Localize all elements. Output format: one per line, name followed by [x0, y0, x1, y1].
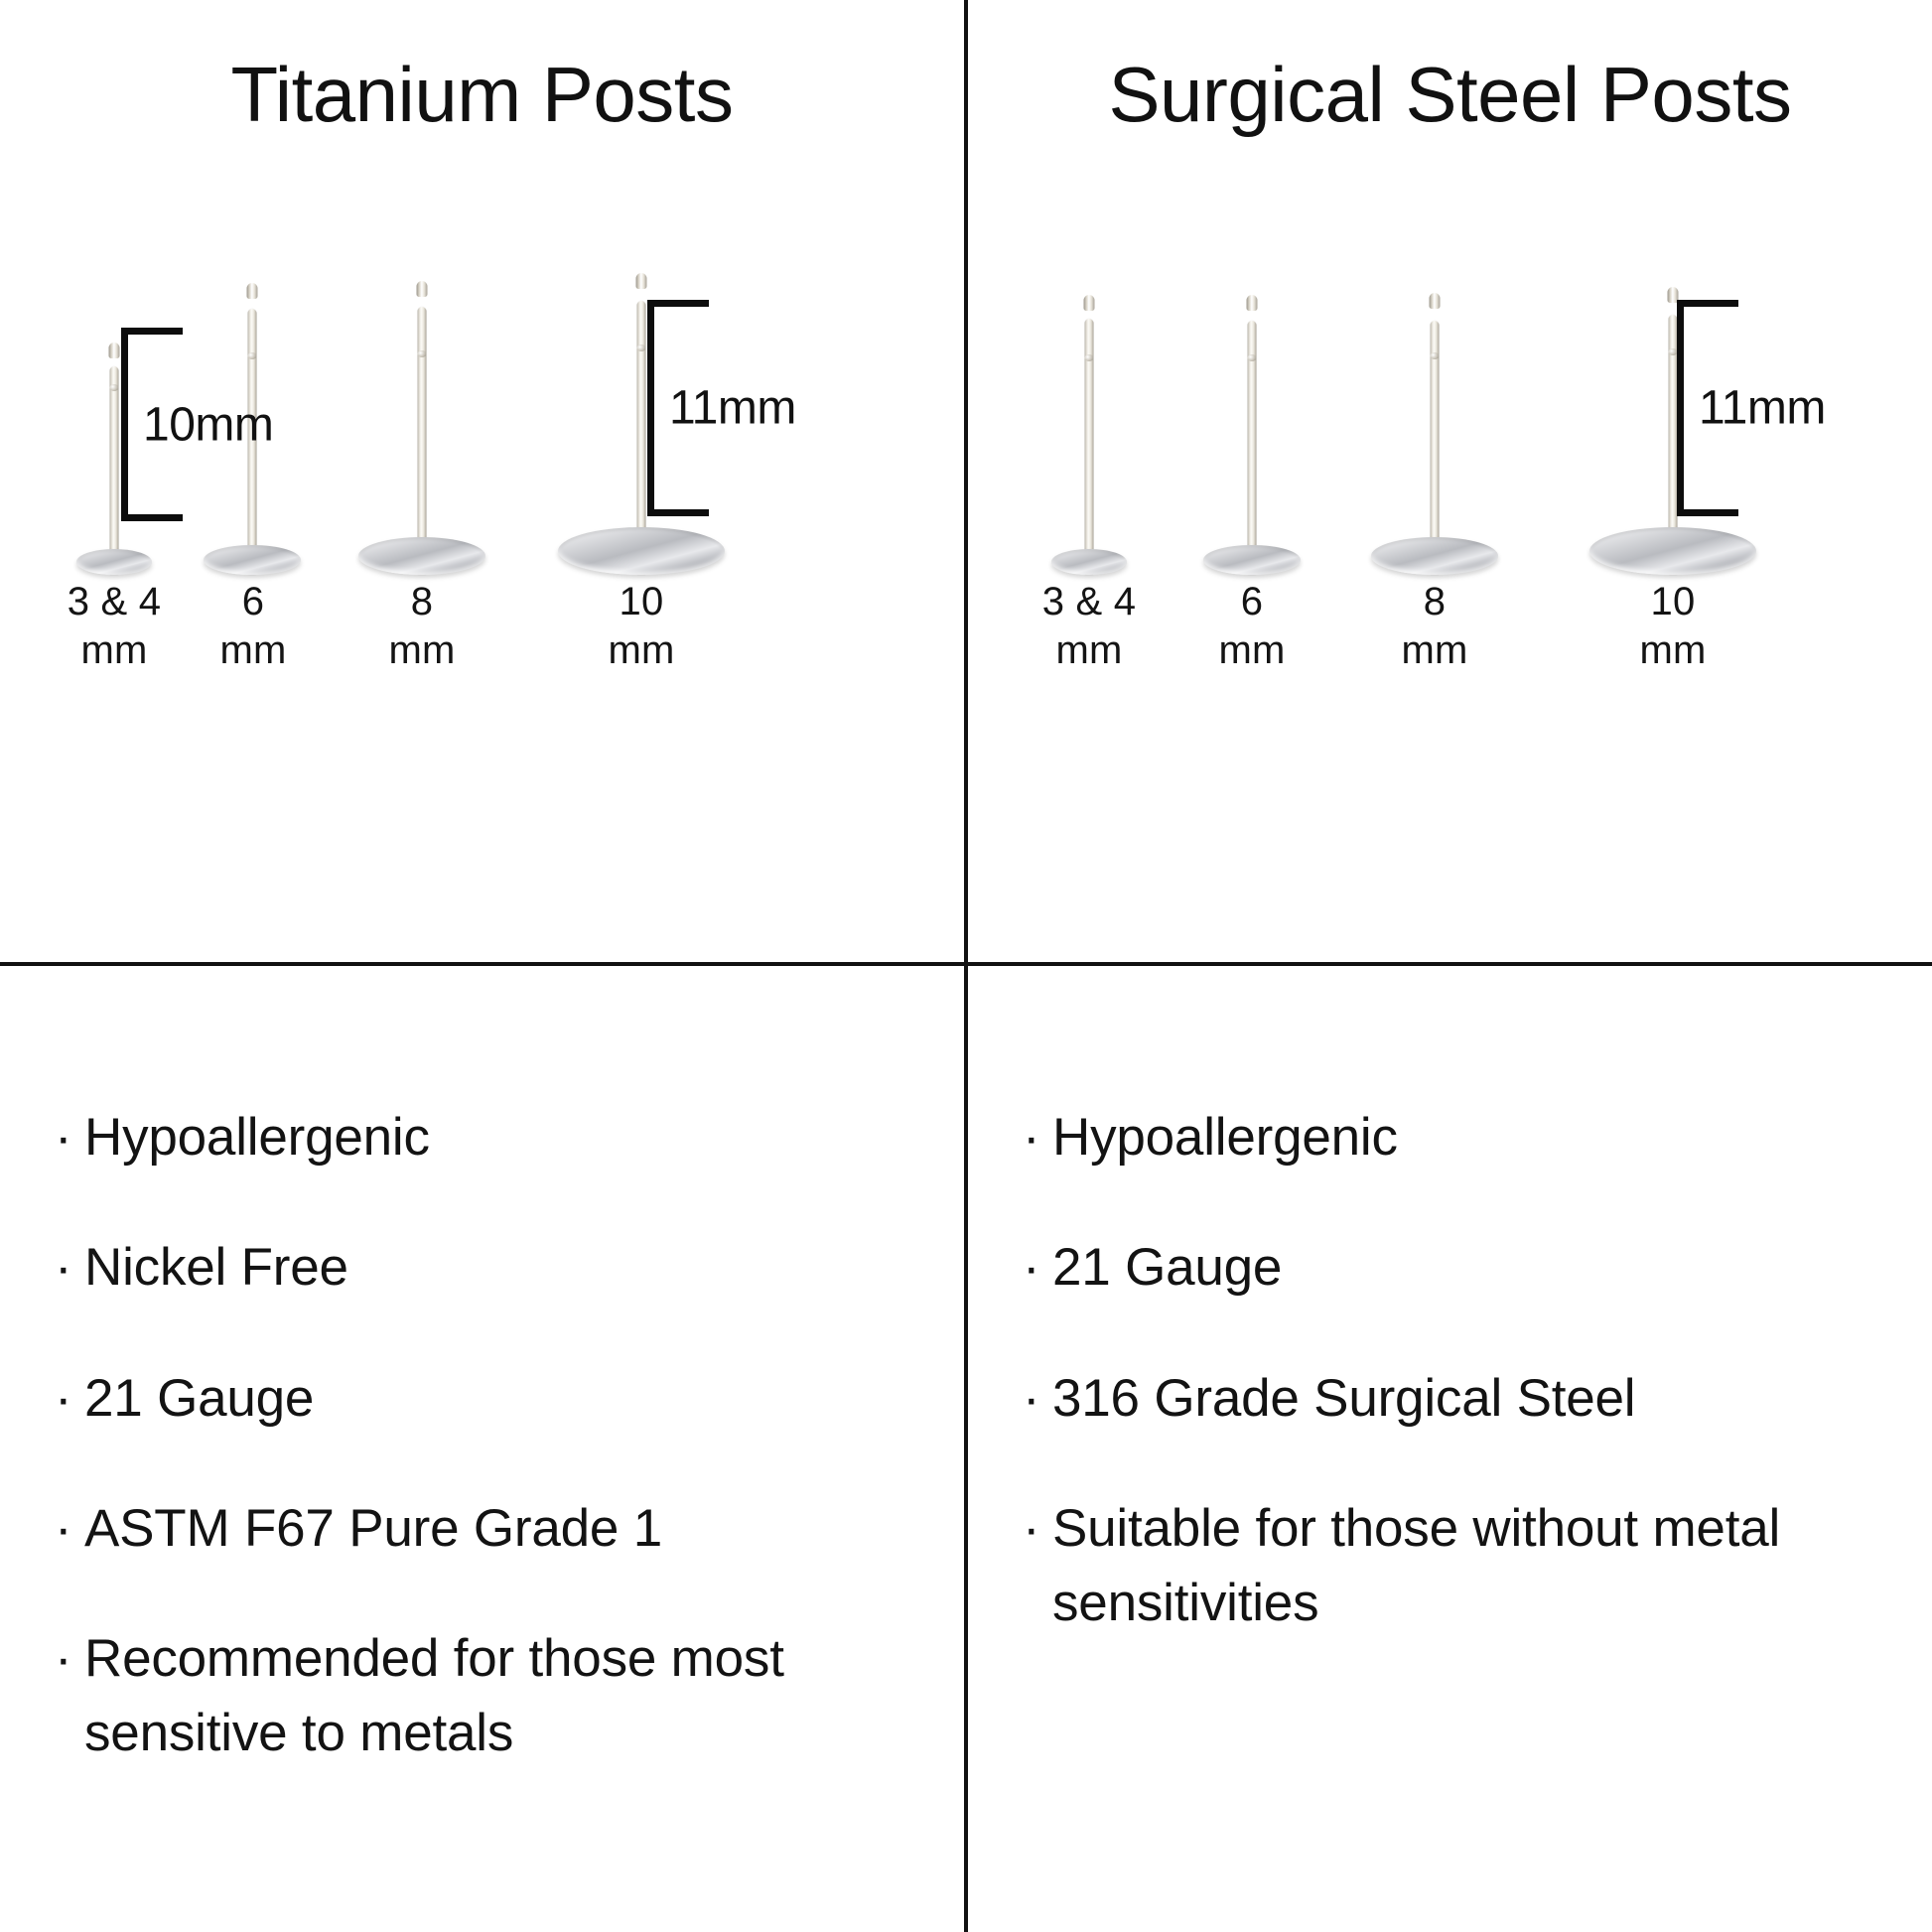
bullet-dot-icon: ·: [55, 1621, 84, 1696]
post-disc-base: [1203, 545, 1301, 575]
post-notch: [110, 384, 119, 391]
post-disc-base: [558, 527, 725, 575]
bullet-dot-icon: ·: [55, 1230, 84, 1305]
list-item: ·Hypoallergenic: [55, 1100, 928, 1174]
list-item-label: Nickel Free: [84, 1230, 928, 1305]
post-notch: [418, 350, 427, 357]
bullet-dot-icon: ·: [1023, 1100, 1052, 1174]
bullet-dot-icon: ·: [1023, 1230, 1052, 1305]
measurement-bracket-11mm-steel: 11mm: [1677, 300, 1738, 516]
post-disc-base: [1371, 537, 1498, 575]
list-item: ·Nickel Free: [55, 1230, 928, 1305]
post-steel-6mm: [1196, 299, 1308, 575]
bullet-dot-icon: ·: [55, 1100, 84, 1174]
titanium-post-stage: 10mm 11mm 3 & 4 mm 6 mm 8 mm 10 mm: [0, 0, 964, 962]
list-item: ·21 Gauge: [1023, 1230, 1896, 1305]
list-item: ·Hypoallergenic: [1023, 1100, 1896, 1174]
vertical-divider: [964, 0, 968, 1932]
post-disc-base: [1589, 527, 1756, 575]
post-steel-3-4mm: [1039, 299, 1139, 575]
post-titanium-8mm: [352, 285, 491, 575]
bullet-dot-icon: ·: [1023, 1491, 1052, 1566]
list-item: ·Recommended for those most sensitive to…: [55, 1621, 928, 1771]
list-item-label: 21 Gauge: [1052, 1230, 1896, 1305]
post-tip: [417, 281, 428, 297]
bullet-dot-icon: ·: [55, 1361, 84, 1436]
bracket-top-cap: [121, 328, 183, 335]
post-shaft: [110, 366, 119, 575]
titanium-features-panel: ·Hypoallergenic·Nickel Free·21 Gauge·AST…: [0, 966, 964, 1932]
post-shaft: [418, 307, 427, 575]
feature-list-titanium: ·Hypoallergenic·Nickel Free·21 Gauge·AST…: [55, 1100, 928, 1827]
post-tip: [1084, 295, 1095, 311]
post-tip: [1430, 293, 1441, 309]
bracket-stem: [647, 300, 654, 516]
bracket-stem: [121, 328, 128, 521]
bracket-label-11mm: 11mm: [669, 381, 796, 436]
post-notch: [1085, 354, 1094, 361]
size-caption-steel-3: 10 mm: [1593, 578, 1752, 675]
feature-list-surgical-steel: ·Hypoallergenic·21 Gauge·316 Grade Surgi…: [1023, 1100, 1896, 1696]
post-tip: [1247, 295, 1258, 311]
bracket-label-10mm: 10mm: [143, 397, 273, 452]
bracket-bottom-cap: [1677, 509, 1738, 516]
size-caption-titanium-0: 3 & 4 mm: [35, 578, 194, 675]
titanium-diagram-panel: Titanium Posts: [0, 0, 964, 962]
size-caption-steel-1: 6 mm: [1173, 578, 1331, 675]
list-item-label: ASTM F67 Pure Grade 1: [84, 1491, 928, 1566]
comparison-grid: Titanium Posts: [0, 0, 1932, 1932]
list-item-label: Suitable for those without metal sensiti…: [1052, 1491, 1896, 1641]
post-notch: [1431, 352, 1440, 359]
post-tip: [109, 343, 120, 358]
bracket-top-cap: [647, 300, 709, 307]
post-notch: [1248, 354, 1257, 361]
post-steel-8mm: [1365, 297, 1504, 575]
bracket-bottom-cap: [647, 509, 709, 516]
surgical-steel-post-stage: 11mm 3 & 4 mm 6 mm 8 mm 10 mm: [968, 0, 1932, 962]
list-item: ·Suitable for those without metal sensit…: [1023, 1491, 1896, 1641]
size-caption-titanium-2: 8 mm: [343, 578, 501, 675]
measurement-bracket-11mm-titanium: 11mm: [647, 300, 709, 516]
list-item: ·ASTM F67 Pure Grade 1: [55, 1491, 928, 1566]
bracket-stem: [1677, 300, 1684, 516]
list-item-label: 21 Gauge: [84, 1361, 928, 1436]
post-disc-base: [358, 537, 485, 575]
bracket-top-cap: [1677, 300, 1738, 307]
surgical-steel-features-panel: ·Hypoallergenic·21 Gauge·316 Grade Surgi…: [968, 966, 1932, 1932]
bullet-dot-icon: ·: [1023, 1361, 1052, 1436]
post-disc-base: [1051, 549, 1127, 575]
list-item-label: Hypoallergenic: [84, 1100, 928, 1174]
list-item-label: Recommended for those most sensitive to …: [84, 1621, 928, 1771]
surgical-steel-diagram-panel: Surgical Steel Posts: [968, 0, 1932, 962]
size-caption-steel-2: 8 mm: [1355, 578, 1514, 675]
post-disc-base: [76, 549, 152, 575]
post-notch: [637, 345, 646, 351]
list-item-label: 316 Grade Surgical Steel: [1052, 1361, 1896, 1436]
size-caption-titanium-3: 10 mm: [562, 578, 721, 675]
post-notch: [248, 352, 257, 359]
list-item: ·21 Gauge: [55, 1361, 928, 1436]
post-disc-base: [204, 545, 301, 575]
size-caption-steel-0: 3 & 4 mm: [1010, 578, 1169, 675]
bullet-dot-icon: ·: [55, 1491, 84, 1566]
measurement-bracket-10mm: 10mm: [121, 328, 183, 521]
size-caption-titanium-1: 6 mm: [174, 578, 333, 675]
post-tip: [636, 273, 647, 289]
bracket-label-11mm: 11mm: [1699, 381, 1826, 436]
list-item: ·316 Grade Surgical Steel: [1023, 1361, 1896, 1436]
horizontal-divider: [0, 962, 1932, 966]
bracket-bottom-cap: [121, 514, 183, 521]
post-tip: [247, 283, 258, 299]
list-item-label: Hypoallergenic: [1052, 1100, 1896, 1174]
